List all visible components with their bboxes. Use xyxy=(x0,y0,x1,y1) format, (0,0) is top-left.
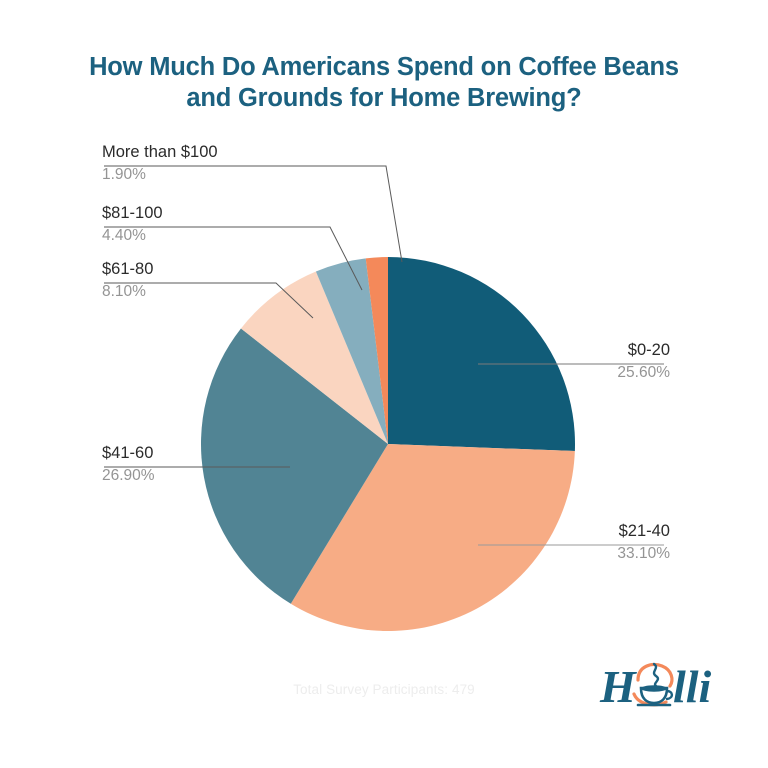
callout-category-0-20: $0-20 xyxy=(617,340,670,361)
callout-percent-61-80: 8.10% xyxy=(102,280,153,302)
callout-0-20: $0-20 25.60% xyxy=(617,340,670,383)
callout-more-than-100: More than $100 1.90% xyxy=(102,142,218,185)
brand-logo-letters-lli: lli xyxy=(673,661,712,712)
callout-percent-0-20: 25.60% xyxy=(617,361,670,383)
pie-slices xyxy=(201,257,575,631)
callout-category-21-40: $21-40 xyxy=(617,521,670,542)
infographic-canvas: How Much Do Americans Spend on Coffee Be… xyxy=(0,0,768,768)
callout-category-more-than-100: More than $100 xyxy=(102,142,218,163)
callout-percent-more-than-100: 1.90% xyxy=(102,163,218,185)
pie-slice-0-20[interactable] xyxy=(388,257,575,451)
callout-category-41-60: $41-60 xyxy=(102,443,155,464)
callout-percent-21-40: 33.10% xyxy=(617,542,670,564)
callout-61-80: $61-80 8.10% xyxy=(102,259,153,302)
callout-41-60: $41-60 26.90% xyxy=(102,443,155,486)
brand-logo: H lli xyxy=(594,650,714,712)
callout-category-81-100: $81-100 xyxy=(102,203,163,224)
callout-81-100: $81-100 4.40% xyxy=(102,203,163,246)
brand-logo-letter-h: H xyxy=(599,661,637,712)
callout-21-40: $21-40 33.10% xyxy=(617,521,670,564)
steam-swirl-icon xyxy=(654,664,658,686)
callout-percent-41-60: 26.90% xyxy=(102,464,155,486)
callout-category-61-80: $61-80 xyxy=(102,259,153,280)
callout-percent-81-100: 4.40% xyxy=(102,224,163,246)
brand-logo-svg: H lli xyxy=(594,650,714,712)
